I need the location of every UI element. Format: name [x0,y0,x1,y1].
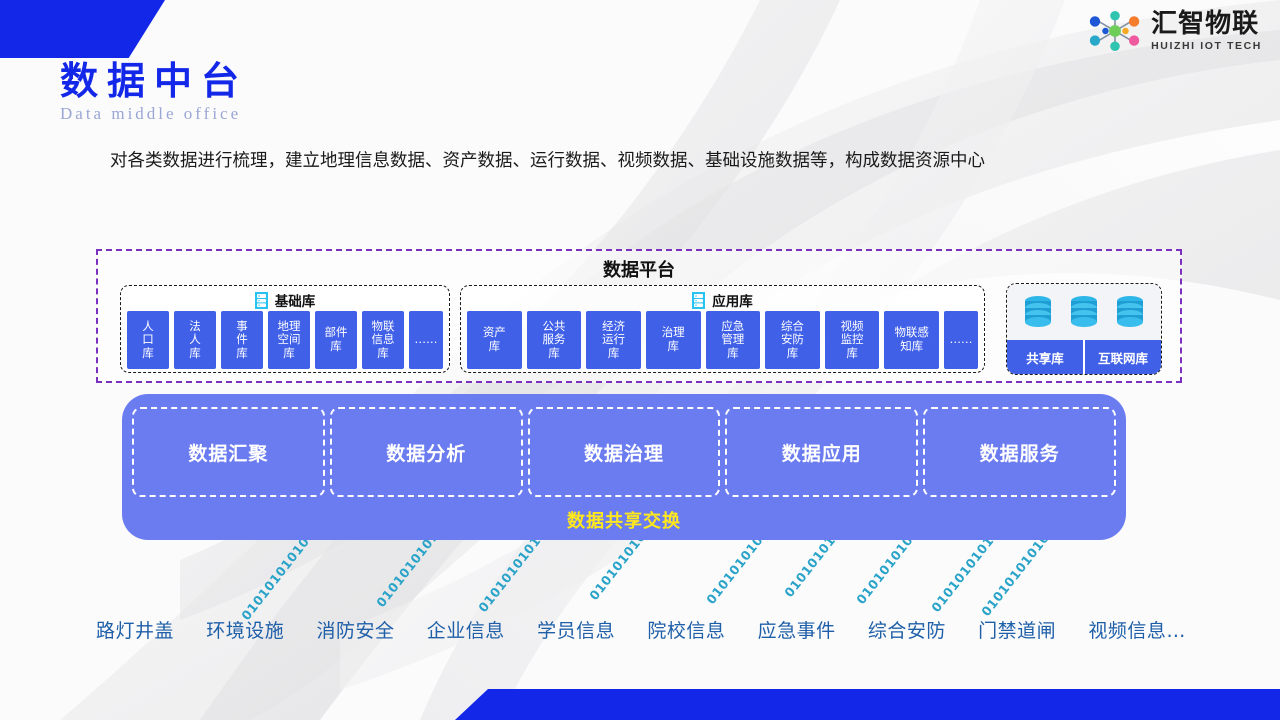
data-source-item-0[interactable]: 路灯井盖 [96,616,174,643]
app-library-chip-4[interactable]: 应急 管理 库 [706,311,761,369]
capability-module-2[interactable]: 数据治理 [528,407,721,497]
data-platform-panel: 数据平台 基础库 人 口 库法 人 库事 件 库地理 空间 库部件 库物联 信息… [96,249,1182,383]
base-library-chip-6[interactable]: …… [409,311,443,369]
data-source-item-3[interactable]: 企业信息 [427,616,505,643]
capability-module-list: 数据汇聚数据分析数据治理数据应用数据服务 [122,394,1126,497]
page-title-block: 数据中台 Data middle office [60,62,248,124]
brand-logo: 汇智物联 HUIZHI IOT TECH [1087,10,1262,52]
data-source-item-8[interactable]: 门禁道闸 [978,616,1056,643]
side-store-box: 共享库互联网库 [1006,283,1162,375]
side-store-cell-1[interactable]: 互联网库 [1083,340,1161,374]
capability-module-4[interactable]: 数据服务 [923,407,1116,497]
app-library-chip-0[interactable]: 资产 库 [467,311,522,369]
app-library-chip-7[interactable]: 物联感 知库 [884,311,939,369]
base-library-chip-list: 人 口 库法 人 库事 件 库地理 空间 库部件 库物联 信息 库…… [121,311,449,369]
data-source-item-1[interactable]: 环境设施 [206,616,284,643]
slide-root: 汇智物联 HUIZHI IOT TECH 数据中台 Data middle of… [0,0,1280,720]
logo-company-name-cn: 汇智物联 [1151,11,1262,37]
app-library-chip-2[interactable]: 经济 运行 库 [586,311,641,369]
base-library-chip-4[interactable]: 部件 库 [315,311,357,369]
app-library-label: 应用库 [712,290,753,310]
corner-decoration-top-left [0,0,165,58]
data-source-item-4[interactable]: 学员信息 [537,616,615,643]
base-library-chip-0[interactable]: 人 口 库 [127,311,169,369]
database-cylinder-icon [1068,295,1100,329]
base-library-header: 基础库 [121,289,449,311]
corner-decoration-bottom-right [455,689,1280,720]
capability-module-1[interactable]: 数据分析 [330,407,523,497]
server-rack-icon [692,292,705,309]
app-library-chip-list: 资产 库公共 服务 库经济 运行 库治理 库应急 管理 库综合 安防 库视频 监… [461,311,984,369]
base-library-chip-3[interactable]: 地理 空间 库 [268,311,310,369]
database-cylinder-icon [1022,295,1054,329]
app-library-header: 应用库 [461,289,984,311]
base-library-label: 基础库 [275,290,316,310]
data-sharing-exchange-label: 数据共享交换 [122,507,1126,533]
server-rack-icon [255,292,268,309]
logo-company-name-en: HUIZHI IOT TECH [1151,41,1262,52]
app-library-chip-8[interactable]: …… [944,311,978,369]
data-source-item-7[interactable]: 综合安防 [868,616,946,643]
database-icon-group [1007,284,1161,340]
base-library-chip-2[interactable]: 事 件 库 [221,311,263,369]
molecule-network-icon [1087,10,1143,52]
data-source-item-2[interactable]: 消防安全 [317,616,395,643]
page-subtitle: Data middle office [60,104,248,124]
data-platform-title: 数据平台 [98,256,1180,282]
data-source-item-9[interactable]: 视频信息… [1088,616,1186,643]
page-description: 对各类数据进行梳理，建立地理信息数据、资产数据、运行数据、视频数据、基础设施数据… [110,140,1175,183]
app-library-chip-5[interactable]: 综合 安防 库 [765,311,820,369]
database-cylinder-icon [1114,295,1146,329]
base-library-box: 基础库 人 口 库法 人 库事 件 库地理 空间 库部件 库物联 信息 库…… [120,285,450,373]
data-source-list: 路灯井盖环境设施消防安全企业信息学员信息院校信息应急事件综合安防门禁道闸视频信息… [96,616,1186,643]
app-library-chip-1[interactable]: 公共 服务 库 [527,311,582,369]
data-source-item-6[interactable]: 应急事件 [758,616,836,643]
capability-band: 数据汇聚数据分析数据治理数据应用数据服务 数据共享交换 [122,394,1126,540]
capability-module-3[interactable]: 数据应用 [725,407,918,497]
app-library-chip-3[interactable]: 治理 库 [646,311,701,369]
data-source-item-5[interactable]: 院校信息 [647,616,725,643]
base-library-chip-5[interactable]: 物联 信息 库 [362,311,404,369]
app-library-box: 应用库 资产 库公共 服务 库经济 运行 库治理 库应急 管理 库综合 安防 库… [460,285,985,373]
side-store-labels: 共享库互联网库 [1007,340,1161,374]
base-library-chip-1[interactable]: 法 人 库 [174,311,216,369]
page-title: 数据中台 [60,62,248,102]
app-library-chip-6[interactable]: 视频 监控 库 [825,311,880,369]
side-store-cell-0[interactable]: 共享库 [1007,340,1083,374]
capability-module-0[interactable]: 数据汇聚 [132,407,325,497]
